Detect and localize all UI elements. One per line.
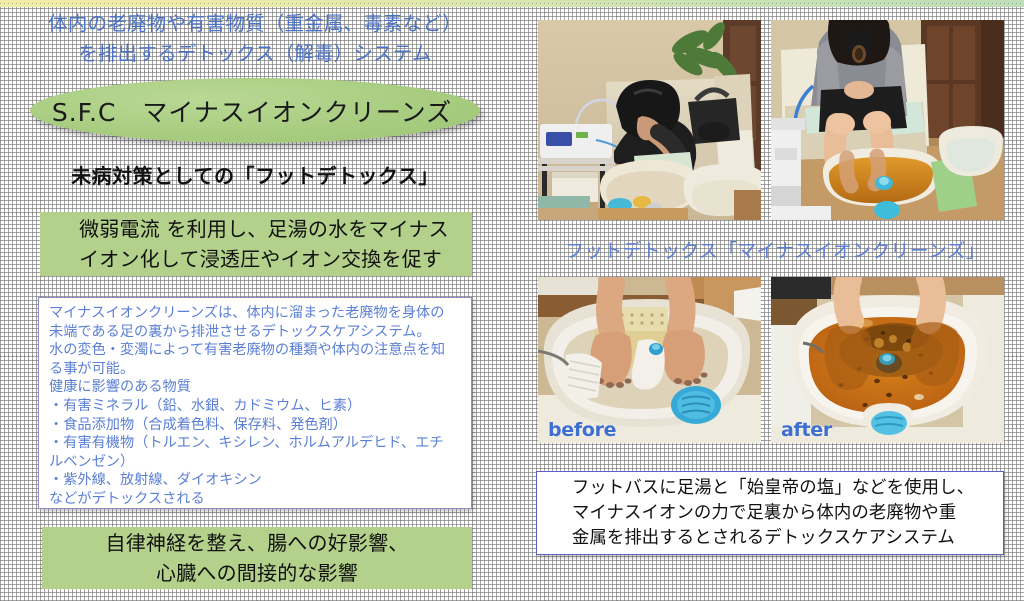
top-band-guide-dots (0, 0, 1024, 7)
photo-seated-client-image (771, 20, 1004, 220)
photo-caption: フットデトックス「マイナスイオンクリーンズ」 (540, 236, 1010, 263)
summary-box: フットバスに足湯と「始皇帝の塩」などを使用し、 マイナスイオンの力で足裏から体内… (536, 471, 1004, 555)
mechanism-callout: 微弱電流 を利用し、足湯の水をマイナス イオン化して浸透圧やイオン交換を促す (40, 212, 472, 276)
photo-after: after (771, 277, 1004, 443)
photo-treatment-session (538, 20, 761, 220)
title-badge: S.F.C マイナスイオンクリーンズ (30, 78, 480, 143)
summary-box-text: フットバスに足湯と「始皇帝の塩」などを使用し、 マイナスイオンの力で足裏から体内… (566, 476, 974, 551)
photo-before: before (538, 277, 761, 443)
page-title: 体内の老廃物や有害物質（重金属、毒素など） を排出するデトックス（解毒）システム (20, 9, 490, 69)
photo-treatment-session-image (538, 20, 761, 220)
before-label: before (548, 419, 616, 441)
effects-callout-text: 自律神経を整え、腸への好影響、 心臓への間接的な影響 (106, 528, 409, 588)
title-badge-label: S.F.C マイナスイオンクリーンズ (30, 93, 480, 129)
detail-description-text: マイナスイオンクリーンズは、体内に溜まった老廃物を身体の 未端である足の裏から排… (49, 304, 463, 509)
subheading: 未病対策としての「フットデトックス」 (30, 160, 480, 189)
effects-callout: 自律神経を整え、腸への好影響、 心臓への間接的な影響 (42, 527, 472, 589)
mechanism-callout-text: 微弱電流 を利用し、足湯の水をマイナス イオン化して浸透圧やイオン交換を促す (63, 214, 449, 274)
detail-description-box: マイナスイオンクリーンズは、体内に溜まった老廃物を身体の 未端である足の裏から排… (38, 297, 472, 509)
slide-canvas: 体内の老廃物や有害物質（重金属、毒素など） を排出するデトックス（解毒）システム… (0, 0, 1024, 601)
photo-seated-client (771, 20, 1004, 220)
guide-line-v (473, 0, 474, 601)
after-label: after (781, 419, 832, 441)
